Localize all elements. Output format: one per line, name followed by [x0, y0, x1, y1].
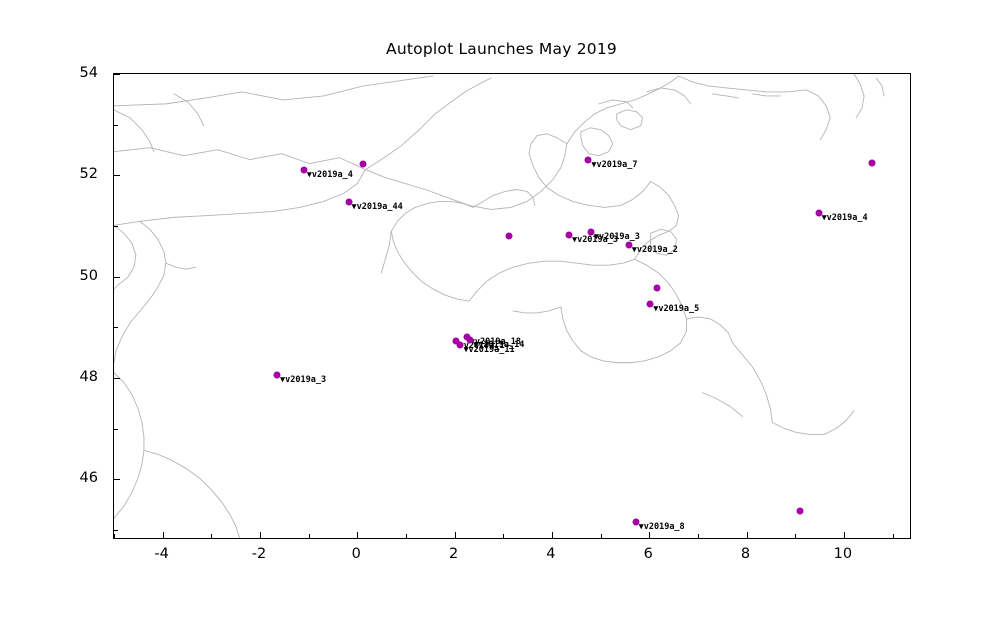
plot-area[interactable]: ▼v2019a_4▼v2019a_44▼v2019a_7▼v2019a_4▼v2…: [113, 73, 911, 539]
x-axis-minor-tick: [211, 534, 212, 539]
y-axis-minor-tick: [113, 327, 118, 328]
map-coastlines: [114, 74, 910, 538]
x-axis-major-tick: [552, 532, 553, 539]
x-axis-tick-label: 6: [644, 546, 653, 562]
x-axis-minor-tick: [503, 534, 504, 539]
x-axis-minor-tick: [893, 534, 894, 539]
scatter-point-label: ▼v2019a_3: [594, 233, 640, 242]
y-axis-major-tick: [113, 378, 120, 379]
scatter-marker[interactable]: [506, 233, 513, 240]
x-axis-major-tick: [455, 532, 456, 539]
x-axis-tick-label: 2: [449, 546, 458, 562]
scatter-point-label: ▼v2019a_11: [463, 346, 514, 355]
x-axis-major-tick: [260, 532, 261, 539]
x-axis-major-tick: [163, 532, 164, 539]
scatter-marker[interactable]: [360, 161, 367, 168]
x-axis-tick-label: -4: [154, 546, 168, 562]
scatter-point-label: ▼v2019a_5: [653, 305, 699, 314]
y-axis-minor-tick: [113, 429, 118, 430]
x-axis-minor-tick: [698, 534, 699, 539]
x-axis-major-tick: [649, 532, 650, 539]
x-axis-minor-tick: [309, 534, 310, 539]
y-axis-tick-label: 46: [0, 470, 98, 486]
x-axis-minor-tick: [406, 534, 407, 539]
scatter-point-label: ▼v2019a_7: [591, 161, 637, 170]
y-axis-minor-tick: [113, 226, 118, 227]
x-axis-tick-label: -2: [252, 546, 266, 562]
scatter-point-label: ▼v2019a_2: [632, 246, 678, 255]
y-axis-major-tick: [113, 175, 120, 176]
y-axis-minor-tick: [113, 125, 118, 126]
x-axis-tick-label: 8: [741, 546, 750, 562]
y-axis-major-tick: [113, 74, 120, 75]
scatter-marker[interactable]: [797, 507, 804, 514]
x-axis-tick-label: 0: [352, 546, 361, 562]
scatter-point-label: ▼v2019a_44: [352, 202, 403, 211]
x-axis-major-tick: [844, 532, 845, 539]
y-axis-minor-tick: [113, 530, 118, 531]
x-axis-minor-tick: [795, 534, 796, 539]
x-axis-minor-tick: [114, 534, 115, 539]
x-axis-tick-label: 10: [834, 546, 852, 562]
scatter-point-label: ▼v2019a_8: [639, 523, 685, 532]
x-axis-major-tick: [357, 532, 358, 539]
x-axis-tick-label: 4: [546, 546, 555, 562]
y-axis-major-tick: [113, 479, 120, 480]
scatter-marker[interactable]: [869, 159, 876, 166]
page-title: Autoplot Launches May 2019: [0, 40, 1003, 58]
y-axis-tick-label: 50: [0, 268, 98, 284]
scatter-point-label: ▼v2019a_4: [307, 171, 353, 180]
x-axis-minor-tick: [601, 534, 602, 539]
y-axis-tick-label: 48: [0, 369, 98, 385]
y-axis-tick-label: 54: [0, 65, 98, 81]
y-axis-major-tick: [113, 277, 120, 278]
y-axis-tick-label: 52: [0, 166, 98, 182]
scatter-point-label: ▼v2019a_4: [822, 214, 868, 223]
figure-canvas: Autoplot Launches May 2019: [0, 0, 1003, 633]
scatter-marker[interactable]: [653, 284, 660, 291]
x-axis-major-tick: [747, 532, 748, 539]
scatter-point-label: ▼v2019a_3: [280, 376, 326, 385]
